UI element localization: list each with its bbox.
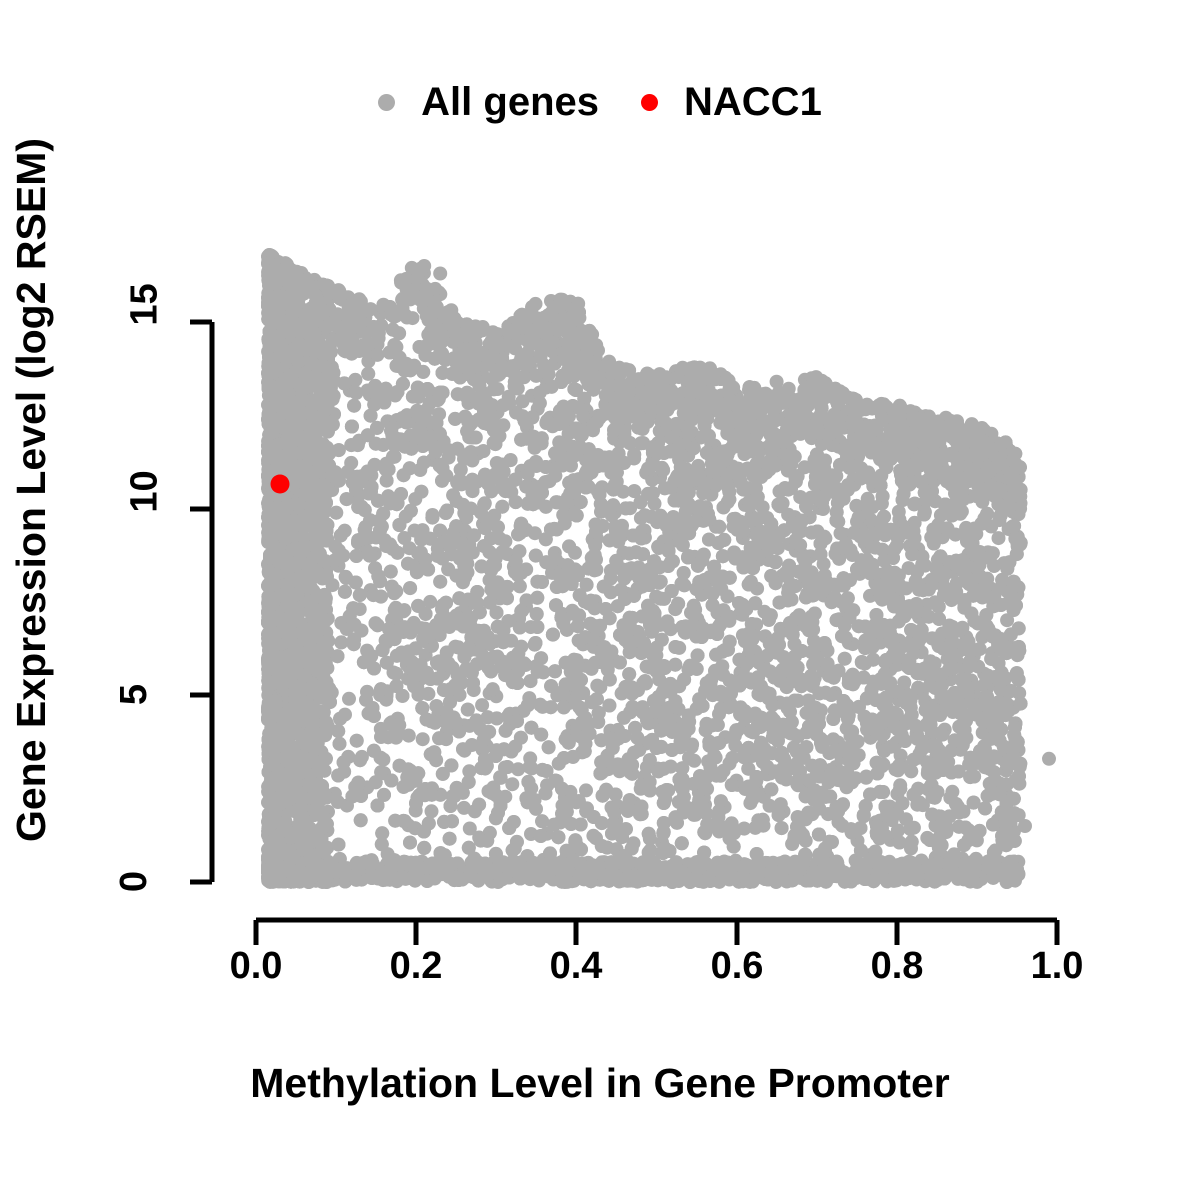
y-tick-label-5: 5 bbox=[124, 673, 145, 716]
x-tick-label-3: 0.6 bbox=[711, 945, 764, 988]
y-tick-label-10: 10 bbox=[124, 470, 166, 513]
x-tick-label-1: 0.2 bbox=[390, 945, 443, 988]
y-axis-title: Gene Expression Level (log2 RSEM) bbox=[8, 0, 68, 1090]
y-tick-label-0: 0 bbox=[124, 860, 145, 903]
scatter-plot-figure: All genes NACC1 0.0 0.2 0.4 0.6 bbox=[0, 0, 1200, 1200]
x-axis-title: Methylation Level in Gene Promoter bbox=[0, 1060, 1200, 1107]
x-tick-label-5: 1.0 bbox=[1031, 945, 1084, 988]
nacc1-point bbox=[271, 475, 290, 494]
plot-canvas bbox=[0, 0, 1200, 1200]
x-tick-label-0: 0.0 bbox=[230, 945, 283, 988]
y-tick-label-15: 15 bbox=[124, 283, 166, 326]
x-tick-label-2: 0.4 bbox=[550, 945, 603, 988]
data-points-layer bbox=[261, 248, 1056, 889]
x-tick-label-4: 0.8 bbox=[871, 945, 924, 988]
